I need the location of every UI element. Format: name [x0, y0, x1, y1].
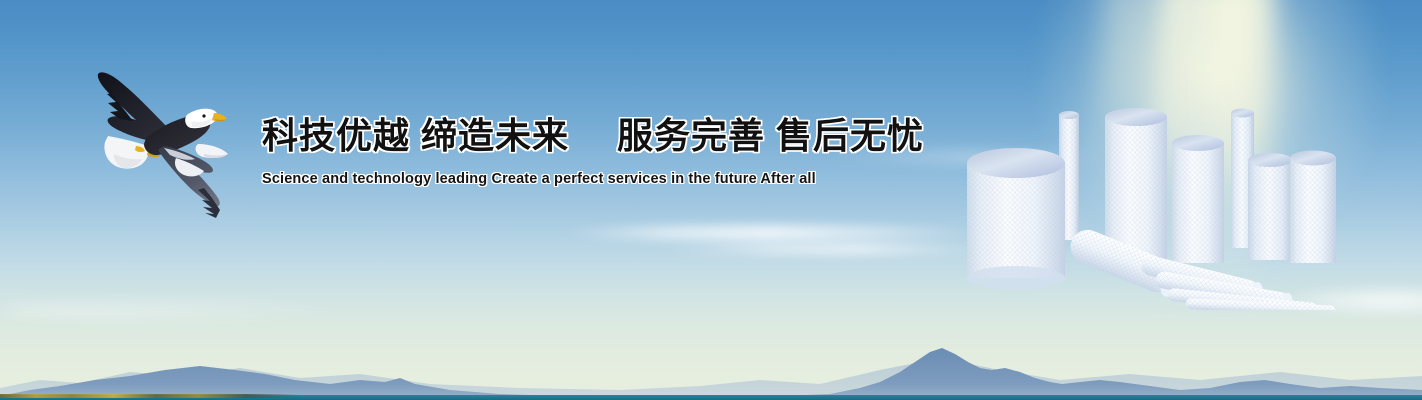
subheadline: Science and technology leading Create a …: [262, 171, 822, 187]
banner-copy: 科技优越 缔造未来 服务完善 售后无忧 Science and technolo…: [262, 112, 822, 187]
cloud-cirrus-band-lower: [660, 243, 990, 255]
bald-eagle-icon: [78, 58, 233, 218]
headline: 科技优越 缔造未来 服务完善 售后无忧: [262, 112, 822, 160]
hero-banner: 科技优越 缔造未来 服务完善 售后无忧 Science and technolo…: [0, 0, 1422, 400]
cartridge-mid-right-of-center: [1172, 135, 1224, 263]
cloud-cirrus-band-upper: [560, 225, 980, 241]
mountain-range: [0, 310, 1422, 400]
cartridge-right-b: [1290, 151, 1336, 264]
cartridge-right-a: [1248, 153, 1292, 260]
shoreline-strip: [0, 394, 300, 398]
cartridge-large-front-left: [967, 148, 1065, 290]
headline-phrase-2: 服务完善 售后无忧: [617, 115, 924, 156]
cartridge-tall-center: [1105, 108, 1167, 262]
filter-cartridge-group: [950, 95, 1350, 310]
headline-phrase-1: 科技优越 缔造未来: [262, 115, 569, 156]
